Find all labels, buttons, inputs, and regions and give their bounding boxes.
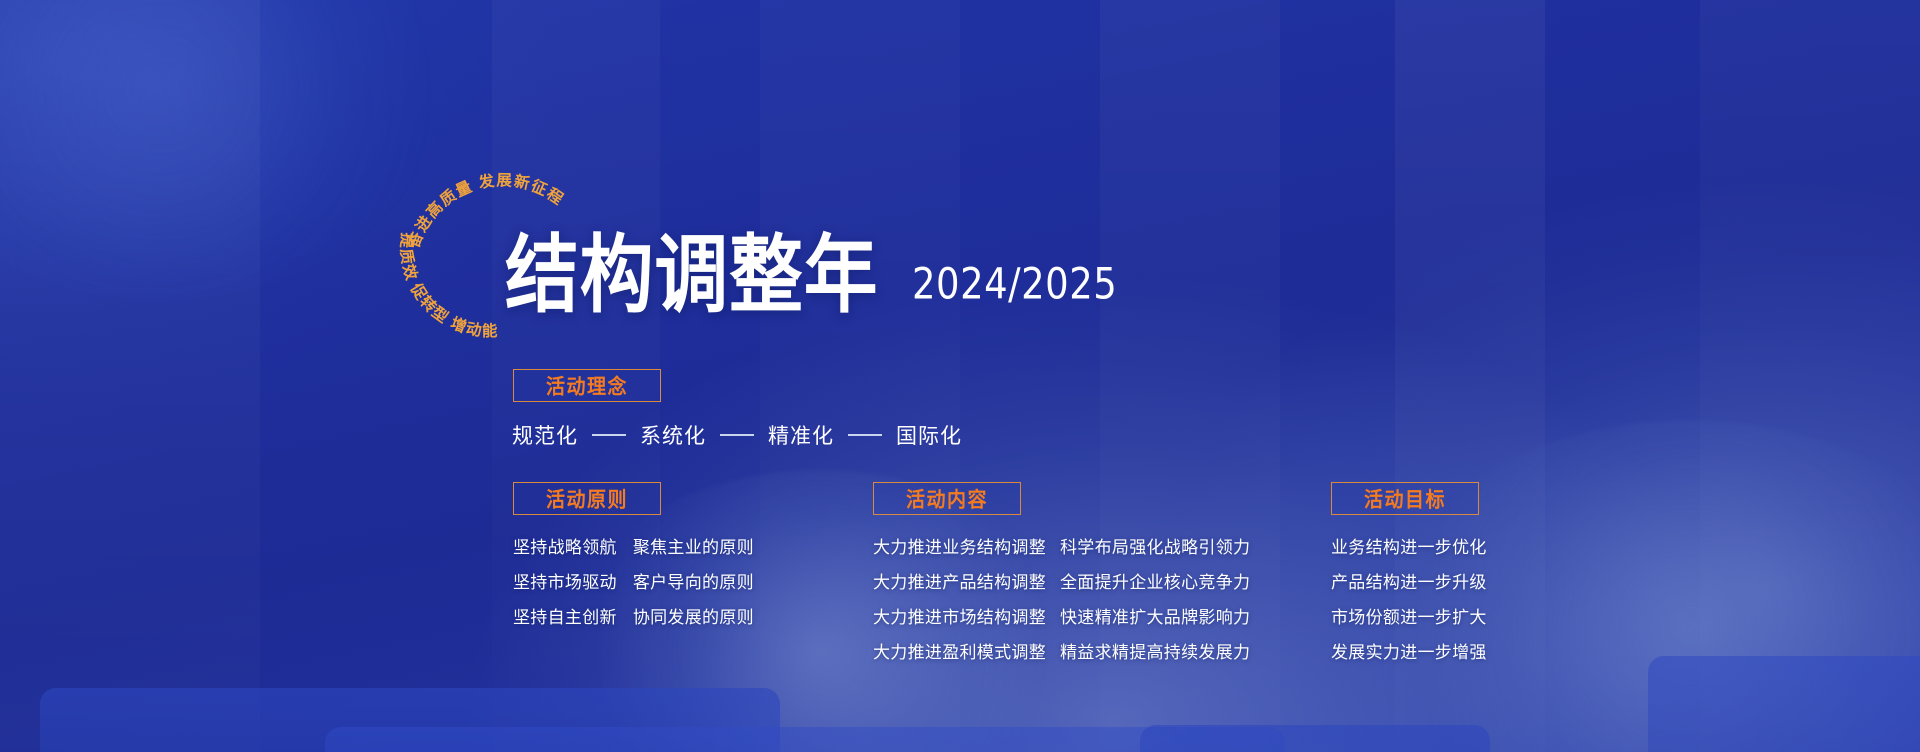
section-badge-principles: 活动原则 (513, 482, 661, 515)
concept-separator-dash (720, 434, 754, 436)
list-item: 大力推进产品结构调整 全面提升企业核心竞争力 (873, 568, 1250, 593)
column-goals: 活动目标 业务结构进一步优化 产品结构进一步升级 市场份额进一步扩大 发展实力进… (1331, 482, 1487, 673)
content-list: 大力推进业务结构调整 科学布局强化战略引领力 大力推进产品结构调整 全面提升企业… (873, 533, 1250, 663)
goal-text: 业务结构进一步优化 (1331, 533, 1487, 558)
principles-list: 坚持战略领航 聚焦主业的原则 坚持市场驱动 客户导向的原则 坚持自主创新 协同发… (513, 533, 754, 628)
list-item: 大力推进业务结构调整 科学布局强化战略引领力 (873, 533, 1250, 558)
content-right: 科学布局强化战略引领力 (1060, 533, 1250, 558)
section-badge-goals-label: 活动目标 (1364, 484, 1446, 513)
section-badge-concept-label: 活动理念 (546, 371, 628, 400)
list-item: 坚持市场驱动 客户导向的原则 (513, 568, 754, 593)
concept-separator-dash (592, 434, 626, 436)
content-left: 大力推进产品结构调整 (873, 568, 1046, 593)
content-left: 大力推进盈利模式调整 (873, 638, 1046, 663)
list-item: 市场份额进一步扩大 (1331, 603, 1487, 628)
concept-item: 精准化 (768, 420, 834, 450)
content-right: 快速精准扩大品牌影响力 (1060, 603, 1250, 628)
principle-right: 聚焦主业的原则 (633, 533, 754, 558)
decor-block (1648, 656, 1920, 752)
concept-items-row: 规范化 系统化 精准化 国际化 (512, 420, 962, 450)
column-content: 活动内容 大力推进业务结构调整 科学布局强化战略引领力 大力推进产品结构调整 全… (873, 482, 1250, 673)
decor-block (1140, 725, 1490, 752)
list-item: 坚持自主创新 协同发展的原则 (513, 603, 754, 628)
content-left: 大力推进市场结构调整 (873, 603, 1046, 628)
banner-root: 奋进高质量 发展新征程 提质效 促转型 增动能 结构调整年 2024/2025 … (0, 0, 1920, 752)
concept-separator-dash (848, 434, 882, 436)
title-row: 结构调整年 2024/2025 (505, 242, 1117, 318)
content-right: 全面提升企业核心竞争力 (1060, 568, 1250, 593)
column-principles: 活动原则 坚持战略领航 聚焦主业的原则 坚持市场驱动 客户导向的原则 坚持自主创… (513, 482, 754, 638)
section-badge-content: 活动内容 (873, 482, 1021, 515)
content-left: 大力推进业务结构调整 (873, 533, 1046, 558)
content-right: 精益求精提高持续发展力 (1060, 638, 1250, 663)
list-item: 业务结构进一步优化 (1331, 533, 1487, 558)
section-badge-concept: 活动理念 (513, 369, 661, 402)
principle-right: 协同发展的原则 (633, 603, 754, 628)
concept-item: 国际化 (896, 420, 962, 450)
decor-block (40, 688, 780, 752)
goals-list: 业务结构进一步优化 产品结构进一步升级 市场份额进一步扩大 发展实力进一步增强 (1331, 533, 1487, 663)
concept-item: 规范化 (512, 420, 578, 450)
principle-right: 客户导向的原则 (633, 568, 754, 593)
concept-item: 系统化 (640, 420, 706, 450)
stripe-band (0, 0, 260, 752)
page-title: 结构调整年 (505, 233, 878, 318)
light-bloom (0, 0, 440, 300)
list-item: 发展实力进一步增强 (1331, 638, 1487, 663)
goal-text: 产品结构进一步升级 (1331, 568, 1487, 593)
section-badge-content-label: 活动内容 (906, 484, 988, 513)
principle-left: 坚持市场驱动 (513, 568, 617, 593)
section-badge-principles-label: 活动原则 (546, 484, 628, 513)
list-item: 大力推进市场结构调整 快速精准扩大品牌影响力 (873, 603, 1250, 628)
decor-block (325, 727, 1285, 752)
list-item: 产品结构进一步升级 (1331, 568, 1487, 593)
principle-left: 坚持战略领航 (513, 533, 617, 558)
stripe-band (1700, 0, 1920, 752)
list-item: 大力推进盈利模式调整 精益求精提高持续发展力 (873, 638, 1250, 663)
section-badge-goals: 活动目标 (1331, 482, 1479, 515)
list-item: 坚持战略领航 聚焦主业的原则 (513, 533, 754, 558)
goal-text: 发展实力进一步增强 (1331, 638, 1487, 663)
principle-left: 坚持自主创新 (513, 603, 617, 628)
goal-text: 市场份额进一步扩大 (1331, 603, 1487, 628)
ring-text-bottom: 提质效 促转型 增动能 (397, 232, 499, 340)
year-range-label: 2024/2025 (912, 259, 1117, 318)
